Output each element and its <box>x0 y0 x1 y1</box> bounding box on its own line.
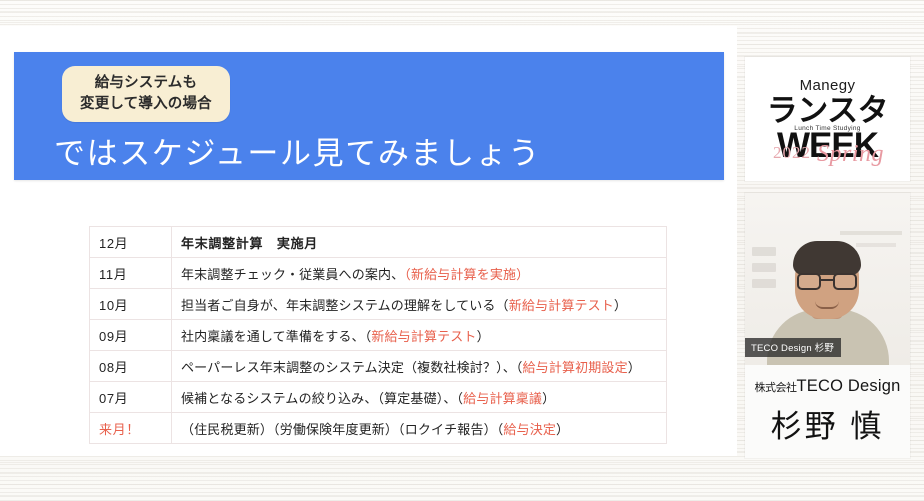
presentation-slide: 給与システムも 変更して導入の場合 ではスケジュール見てみましょう 12月年末調… <box>0 26 737 456</box>
speaker-hair <box>793 241 861 275</box>
glasses-bridge <box>821 279 833 281</box>
background-wall-text-secondary <box>856 243 896 247</box>
detail-text: 年末調整チェック・従業員への案内、 <box>181 267 404 282</box>
table-row: 10月担当者ご自身が、年末調整システムの理解をしている（新給与計算テスト） <box>90 289 667 320</box>
detail-text-tail: ） <box>628 360 641 375</box>
table-cell-month: 11月 <box>90 258 172 289</box>
schedule-table: 12月年末調整計算 実施月11月年末調整チェック・従業員への案内、（新給与計算を… <box>89 226 667 444</box>
detail-highlight-text: 新給与計算テスト <box>371 329 476 344</box>
background-badge-icon <box>752 279 776 288</box>
table-cell-month: 12月 <box>90 227 172 258</box>
detail-text: 社内稟議を通して準備をする、（ <box>181 329 371 344</box>
table-cell-detail: （住民税更新）（労働保険年度更新）（ロクイチ報告）（給与決定） <box>172 413 667 444</box>
table-cell-detail: 担当者ご自身が、年末調整システムの理解をしている（新給与計算テスト） <box>172 289 667 320</box>
table-cell-detail: ペーパーレス年末調整のシステム決定（複数社検討？）、（給与計算初期設定） <box>172 351 667 382</box>
speaker-company: 株式会社TECO Design <box>745 377 910 396</box>
speaker-card[interactable]: TECO Design 杉野 株式会社TECO Design 杉野 慎 <box>745 193 910 458</box>
glasses-right-lens <box>833 273 857 290</box>
schedule-table-container: 12月年末調整計算 実施月11月年末調整チェック・従業員への案内、（新給与計算を… <box>89 226 667 444</box>
background-logo-icon <box>752 247 776 256</box>
speaker-company-prefix: 株式会社 <box>755 382 797 394</box>
glasses-icon <box>797 273 857 290</box>
screen-background: 給与システムも 変更して導入の場合 ではスケジュール見てみましょう 12月年末調… <box>0 0 924 501</box>
background-wall-text <box>840 231 902 235</box>
detail-text: （住民税更新）（労働保険年度更新）（ロクイチ報告）（ <box>181 422 503 437</box>
glasses-left-lens <box>797 273 821 290</box>
event-logo-card: Manegy ランスタWEEK Lunch Time Studying 2022… <box>745 57 910 181</box>
background-cloud-logo-icon <box>752 263 776 272</box>
event-brand-label: Manegy <box>745 77 910 94</box>
event-title-jp: ランスタ <box>767 93 888 128</box>
detail-highlight-text: 給与決定 <box>503 422 556 437</box>
detail-highlight-text: （新給与計算を実施） <box>404 267 529 282</box>
speaker-video-feed[interactable]: TECO Design 杉野 <box>745 193 910 365</box>
table-cell-detail: 年末調整チェック・従業員への案内、（新給与計算を実施） <box>172 258 667 289</box>
table-row: 09月社内稟議を通して準備をする、（新給与計算テスト） <box>90 320 667 351</box>
detail-text: ペーパーレス年末調整のシステム決定（複数社検討？）、（ <box>181 360 523 375</box>
table-row: 08月ペーパーレス年末調整のシステム決定（複数社検討？）、（給与計算初期設定） <box>90 351 667 382</box>
detail-highlight-text: 新給与計算テスト <box>509 298 614 313</box>
detail-highlight-text: 給与計算初期設定 <box>523 360 628 375</box>
event-season: Spring <box>817 141 884 168</box>
slide-header-bar: 給与システムも 変更して導入の場合 ではスケジュール見てみましょう <box>14 52 724 180</box>
table-row: 12月年末調整計算 実施月 <box>90 227 667 258</box>
table-cell-detail: 社内稟議を通して準備をする、（新給与計算テスト） <box>172 320 667 351</box>
detail-text-tail: ） <box>614 298 627 313</box>
callout-bubble: 給与システムも 変更して導入の場合 <box>62 66 230 122</box>
slide-title: ではスケジュール見てみましょう <box>54 128 541 173</box>
speaker-company-name: TECO Design <box>797 377 901 395</box>
speaker-personal-name: 杉野 慎 <box>745 401 910 446</box>
table-row: 11月年末調整チェック・従業員への案内、（新給与計算を実施） <box>90 258 667 289</box>
detail-text-tail: ） <box>556 422 569 437</box>
table-cell-month: 来月！ <box>90 413 172 444</box>
detail-text-tail: ） <box>477 329 490 344</box>
detail-text-tail: ） <box>542 391 555 406</box>
table-cell-month: 10月 <box>90 289 172 320</box>
detail-text: 担当者ご自身が、年末調整システムの理解をしている（ <box>181 298 509 313</box>
table-cell-month: 08月 <box>90 351 172 382</box>
detail-text: 年末調整計算 実施月 <box>181 236 318 251</box>
detail-text: 候補となるシステムの絞り込み、（算定基礎）、（ <box>181 391 463 406</box>
event-subtitle: Lunch Time Studying <box>745 125 910 132</box>
detail-highlight-text: 給与計算稟議 <box>463 391 542 406</box>
table-cell-month: 07月 <box>90 382 172 413</box>
speaker-name-card: 株式会社TECO Design 杉野 慎 <box>745 365 910 458</box>
table-cell-detail: 候補となるシステムの絞り込み、（算定基礎）、（給与計算稟議） <box>172 382 667 413</box>
event-year: 2022 <box>773 143 811 163</box>
table-cell-detail: 年末調整計算 実施月 <box>172 227 667 258</box>
table-cell-month: 09月 <box>90 320 172 351</box>
table-row: 来月！（住民税更新）（労働保険年度更新）（ロクイチ報告）（給与決定） <box>90 413 667 444</box>
table-row: 07月候補となるシステムの絞り込み、（算定基礎）、（給与計算稟議） <box>90 382 667 413</box>
video-name-overlay: TECO Design 杉野 <box>745 338 841 357</box>
